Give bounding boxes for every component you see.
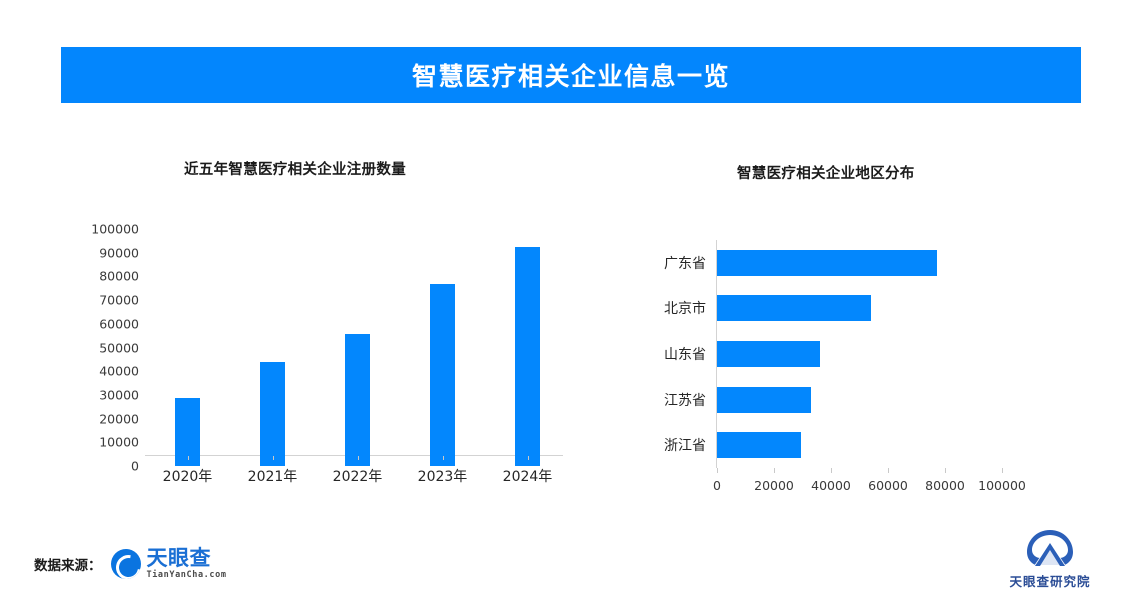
tianyancha-logo-en: TianYanCha.com bbox=[147, 571, 227, 580]
left-chart-y-tick: 50000 bbox=[75, 340, 139, 355]
right-chart-x-tickmark bbox=[831, 468, 832, 473]
institute-name: 天眼查研究院 bbox=[1009, 571, 1090, 590]
right-chart-x-tick-label: 100000 bbox=[978, 478, 1026, 493]
list-item bbox=[717, 387, 811, 413]
right-chart-category-label: 浙江省 bbox=[630, 435, 706, 455]
table-row bbox=[260, 362, 285, 466]
left-chart-y-tick: 80000 bbox=[75, 269, 139, 284]
right-chart-x-tick-label: 80000 bbox=[925, 478, 965, 493]
list-item bbox=[717, 250, 937, 276]
tianyancha-logo-cn: 天眼查 bbox=[147, 548, 227, 569]
left-chart-x-tick-label: 2024年 bbox=[503, 466, 553, 486]
list-item bbox=[717, 295, 871, 321]
right-chart-x-tick-label: 40000 bbox=[811, 478, 851, 493]
source-label: 数据来源： bbox=[34, 554, 102, 574]
tianyancha-wordmark: 天眼查 TianYanCha.com bbox=[147, 548, 227, 580]
table-row bbox=[515, 247, 540, 466]
tianyancha-logo: 天眼查 TianYanCha.com bbox=[111, 548, 227, 580]
right-chart-category-label: 广东省 bbox=[630, 253, 706, 273]
left-chart-y-tick: 90000 bbox=[75, 245, 139, 260]
list-item bbox=[717, 341, 820, 367]
left-chart-y-tick: 10000 bbox=[75, 435, 139, 450]
table-row bbox=[430, 284, 455, 466]
right-chart-x-tickmark bbox=[1002, 468, 1003, 473]
tianyancha-eye-icon bbox=[111, 549, 141, 579]
right-chart-x-tick-label: 20000 bbox=[754, 478, 794, 493]
table-row bbox=[345, 334, 370, 466]
infographic-root: 智慧医疗相关企业信息一览 近五年智慧医疗相关企业注册数量 智慧医疗相关企业地区分… bbox=[0, 0, 1136, 613]
right-chart-x-tick-label: 60000 bbox=[868, 478, 908, 493]
left-chart-x-tickmark bbox=[358, 456, 359, 460]
left-chart-y-tick: 30000 bbox=[75, 387, 139, 402]
left-chart-title: 近五年智慧医疗相关企业注册数量 bbox=[184, 158, 406, 179]
right-chart-x-tickmark bbox=[888, 468, 889, 473]
left-chart-plot-area bbox=[145, 229, 570, 466]
right-chart-x-tick-label: 0 bbox=[713, 478, 721, 493]
left-chart-x-tickmark bbox=[273, 456, 274, 460]
left-chart-x-tickmark bbox=[443, 456, 444, 460]
left-chart-y-tick: 20000 bbox=[75, 411, 139, 426]
page-title: 智慧医疗相关企业信息一览 bbox=[412, 57, 730, 93]
right-chart-category-label: 山东省 bbox=[630, 344, 706, 364]
left-chart-x-tickmark bbox=[188, 456, 189, 460]
left-chart-x-tick-label: 2023年 bbox=[418, 466, 468, 486]
right-chart-title: 智慧医疗相关企业地区分布 bbox=[737, 162, 915, 183]
left-chart-y-tick: 60000 bbox=[75, 316, 139, 331]
right-chart-x-tickmark bbox=[717, 468, 718, 473]
right-chart-category-label: 江苏省 bbox=[630, 390, 706, 410]
left-chart-x-tick-label: 2021年 bbox=[248, 466, 298, 486]
left-chart-y-tick: 40000 bbox=[75, 364, 139, 379]
region-distribution-bar-chart: 广东省北京市山东省江苏省浙江省 020000400006000080000100… bbox=[630, 240, 1050, 495]
left-chart-x-tickmark bbox=[528, 456, 529, 460]
left-chart-x-tick-label: 2020年 bbox=[163, 466, 213, 486]
right-chart-x-tickmark bbox=[774, 468, 775, 473]
header-banner: 智慧医疗相关企业信息一览 bbox=[61, 47, 1081, 103]
list-item bbox=[717, 432, 801, 458]
footer-institute: 天眼查研究院 bbox=[1000, 528, 1100, 590]
left-chart-x-tick-label: 2022年 bbox=[333, 466, 383, 486]
left-chart-y-tick: 0 bbox=[75, 459, 139, 474]
right-chart-category-label: 北京市 bbox=[630, 298, 706, 318]
footer-source: 数据来源： 天眼查 TianYanCha.com bbox=[34, 548, 227, 580]
institute-logo-icon bbox=[1026, 528, 1074, 568]
left-chart-y-tick: 100000 bbox=[75, 222, 139, 237]
registration-count-bar-chart: 0100002000030000400005000060000700008000… bbox=[75, 218, 575, 493]
right-chart-x-tickmark bbox=[945, 468, 946, 473]
left-chart-y-tick: 70000 bbox=[75, 293, 139, 308]
